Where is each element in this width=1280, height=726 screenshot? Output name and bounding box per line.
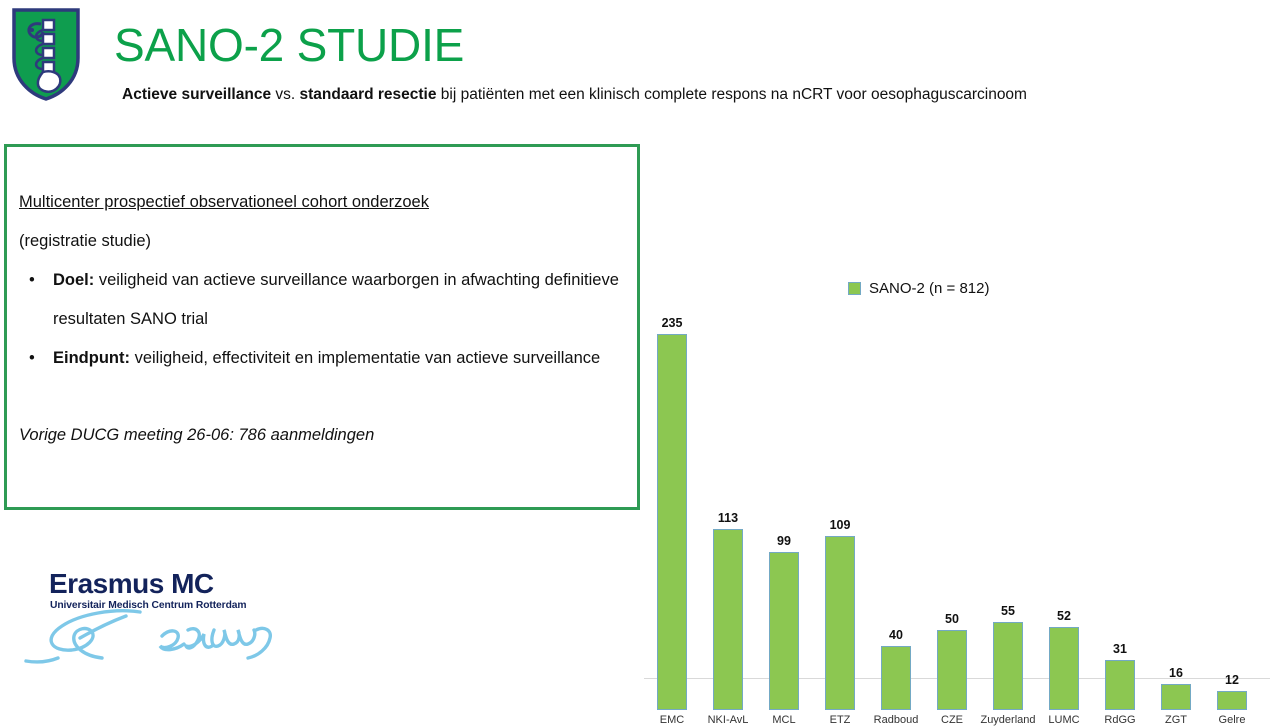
bar-group: 40Radboud xyxy=(868,280,924,710)
chart-bar xyxy=(993,622,1023,710)
bar-category-label: RdGG xyxy=(1092,714,1148,726)
bar-category-label: EMC xyxy=(644,714,700,726)
study-subheading: (registratie studie) xyxy=(19,222,625,261)
chart-bar xyxy=(1161,684,1191,710)
bar-category-label: ETZ xyxy=(812,714,868,726)
hospital-inclusions-bar-chart: SANO-2 (n = 812) 235EMC113NKI-AvL99MCL10… xyxy=(636,250,1276,710)
bar-value-label: 55 xyxy=(980,604,1036,618)
bar-value-label: 50 xyxy=(924,612,980,626)
slide-header: SANO-2 STUDIE Actieve surveillance vs. s… xyxy=(0,0,1280,120)
chart-bar xyxy=(1105,660,1135,710)
bar-category-label: CZE xyxy=(924,714,980,726)
bullet-text: veiligheid van actieve surveillance waar… xyxy=(53,271,619,328)
erasmus-mc-logo: Erasmus MC Universitair Medisch Centrum … xyxy=(40,560,300,670)
bar-group: 55Zuyderland xyxy=(980,280,1036,710)
slide-subtitle: Actieve surveillance vs. standaard resec… xyxy=(122,84,1027,106)
bar-value-label: 12 xyxy=(1204,673,1260,687)
bar-category-label: Radboud xyxy=(868,714,924,726)
bar-value-label: 235 xyxy=(644,316,700,330)
bar-category-label: MCL xyxy=(756,714,812,726)
chart-bar xyxy=(825,536,855,710)
bar-group: 99MCL xyxy=(756,280,812,710)
study-heading: Multicenter prospectief observationeel c… xyxy=(19,183,625,222)
bar-group: 12Gelre xyxy=(1204,280,1260,710)
bar-group: 109ETZ xyxy=(812,280,868,710)
chart-bar xyxy=(937,630,967,710)
chart-bar xyxy=(769,552,799,710)
bar-group: 31RdGG xyxy=(1092,280,1148,710)
bar-category-label: Zuyderland xyxy=(980,714,1036,726)
subtitle-part-1: vs. xyxy=(271,86,299,103)
bullet-marker-icon: • xyxy=(29,339,35,378)
bar-value-label: 113 xyxy=(700,511,756,525)
chart-bar xyxy=(1217,691,1247,710)
chart-bar xyxy=(657,334,687,710)
bar-group: 52LUMC xyxy=(1036,280,1092,710)
bullet-marker-icon: • xyxy=(29,261,35,300)
study-description-content: Multicenter prospectief observationeel c… xyxy=(19,183,625,455)
bar-value-label: 40 xyxy=(868,628,924,642)
chart-bar xyxy=(713,529,743,710)
ducg-shield-logo-icon xyxy=(10,6,82,102)
bar-group: 16ZGT xyxy=(1148,280,1204,710)
bullet-lead: Eindpunt: xyxy=(53,349,130,367)
bar-group: 113NKI-AvL xyxy=(700,280,756,710)
bar-value-label: 99 xyxy=(756,534,812,548)
list-item: •Doel: veiligheid van actieve surveillan… xyxy=(19,261,625,339)
study-footnote: Vorige DUCG meeting 26-06: 786 aanmeldin… xyxy=(19,416,625,455)
bar-value-label: 16 xyxy=(1148,666,1204,680)
bullet-lead: Doel: xyxy=(53,271,94,289)
study-description-box: Multicenter prospectief observationeel c… xyxy=(4,144,640,510)
bar-group: 50CZE xyxy=(924,280,980,710)
subtitle-part-0: Actieve surveillance xyxy=(122,86,271,103)
erasmus-mc-wordmark: Erasmus MC xyxy=(49,568,214,600)
bar-group: 235EMC xyxy=(644,280,700,710)
subtitle-part-2: standaard resectie xyxy=(299,86,436,103)
bar-category-label: NKI-AvL xyxy=(700,714,756,726)
bar-category-label: ZGT xyxy=(1148,714,1204,726)
bar-category-label: Gelre xyxy=(1204,714,1260,726)
chart-bar xyxy=(881,646,911,710)
study-heading-text: Multicenter prospectief observationeel c… xyxy=(19,193,429,211)
page-title: SANO-2 STUDIE xyxy=(114,17,464,73)
erasmus-signature-icon xyxy=(18,606,288,668)
subtitle-part-3: bij patiënten met een klinisch complete … xyxy=(436,86,1026,103)
bar-value-label: 52 xyxy=(1036,609,1092,623)
chart-bar xyxy=(1049,627,1079,710)
bar-value-label: 109 xyxy=(812,518,868,532)
bar-category-label: LUMC xyxy=(1036,714,1092,726)
bar-value-label: 31 xyxy=(1092,642,1148,656)
list-item: •Eindpunt: veiligheid, effectiviteit en … xyxy=(19,339,625,378)
bullet-text: veiligheid, effectiviteit en implementat… xyxy=(130,349,600,367)
